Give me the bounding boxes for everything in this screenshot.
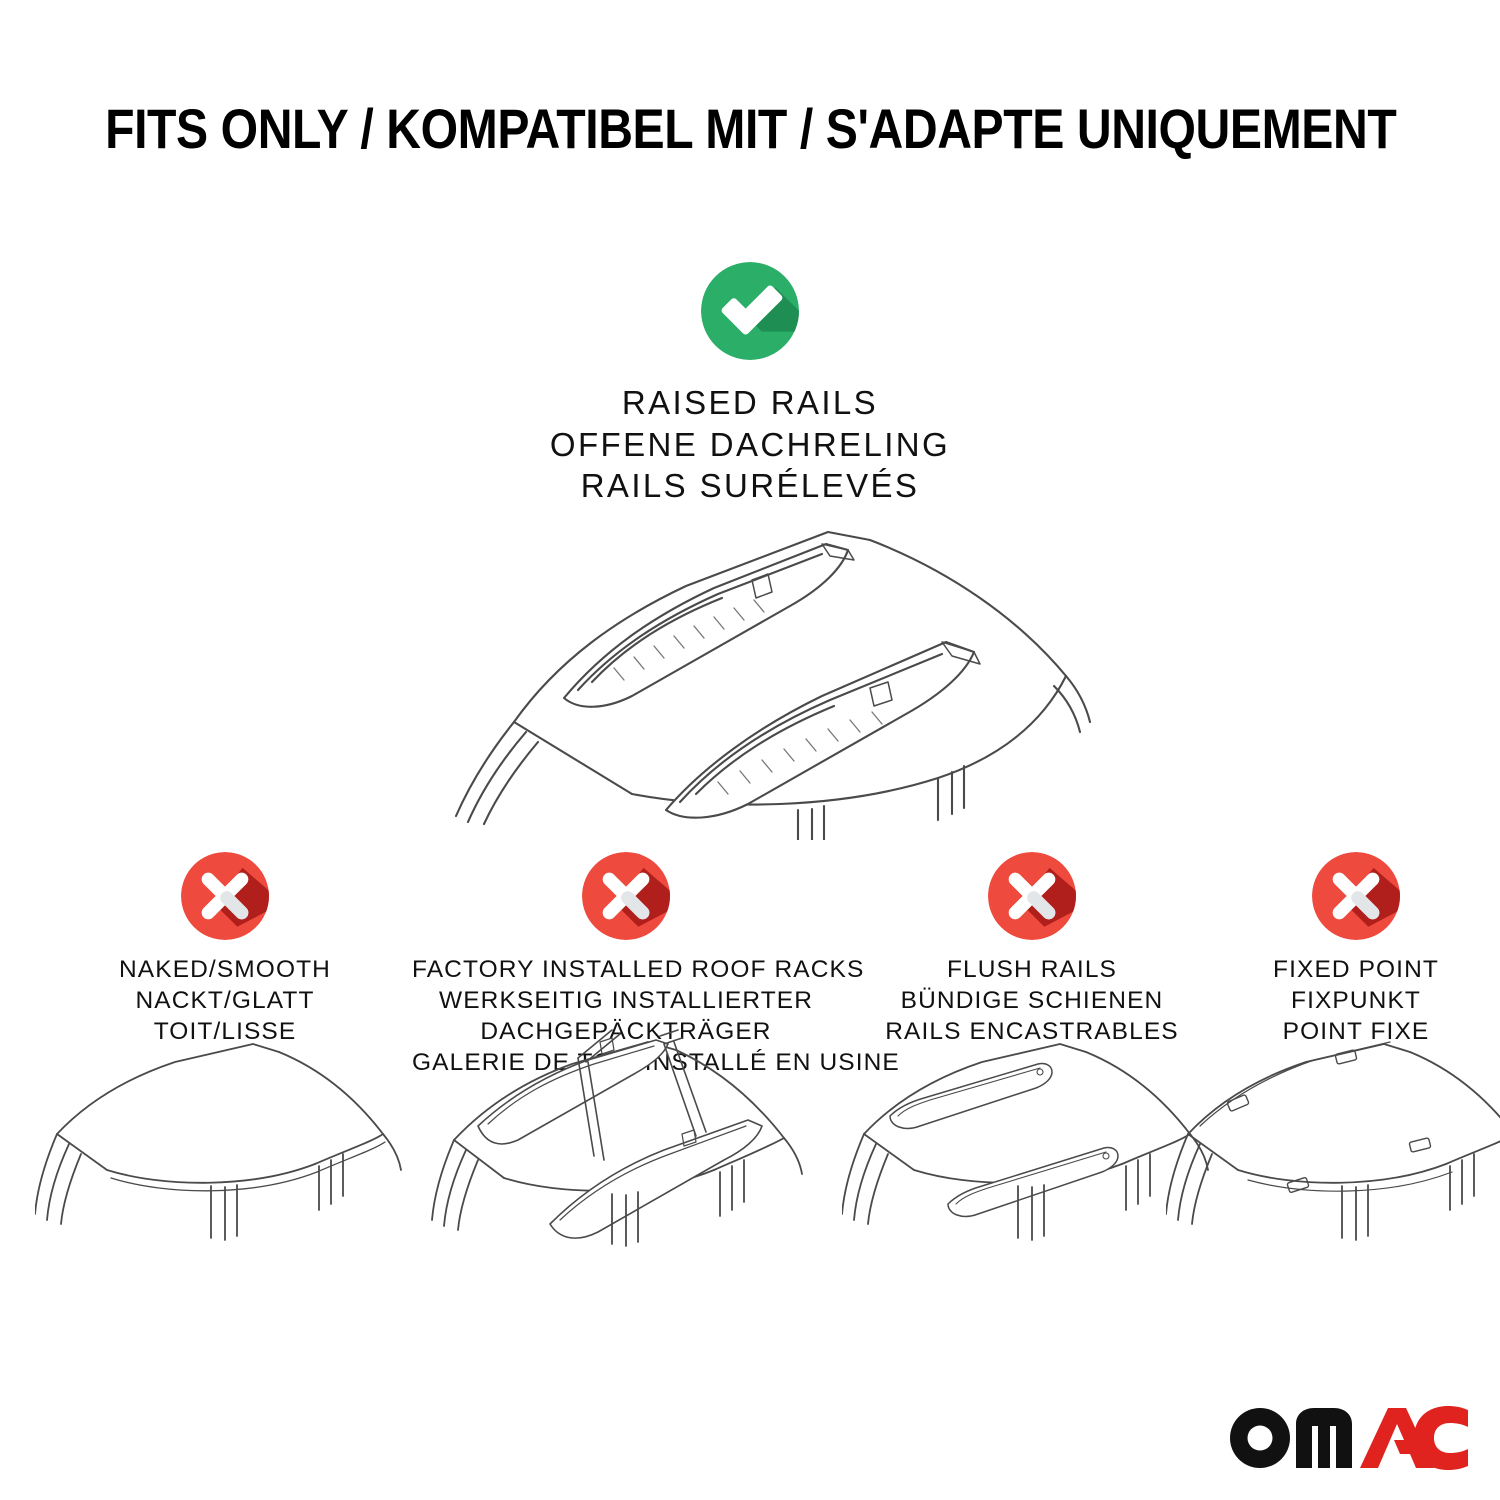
car-roof-naked-smooth-illustration xyxy=(35,1038,415,1298)
incompatible-item-factory-roof-racks: FACTORY INSTALLED ROOF RACKS WERKSEITIG … xyxy=(412,852,840,1078)
incompatible-label-flush-rails: FLUSH RAILS BÜNDIGE SCHIENEN RAILS ENCAS… xyxy=(862,954,1202,1047)
incompatible-label-naked-smooth: NAKED/SMOOTH NACKT/GLATT TOIT/LISSE xyxy=(40,954,410,1047)
label-line-2: FIXPUNKT xyxy=(1212,985,1500,1016)
incompatible-item-naked-smooth: NAKED/SMOOTH NACKT/GLATT TOIT/LISSE xyxy=(40,852,410,1047)
label-line-2: WERKSEITIG INSTALLIERTER xyxy=(412,985,840,1016)
label-line-1: FACTORY INSTALLED ROOF RACKS xyxy=(412,954,840,985)
car-roof-factory-racks-illustration xyxy=(426,1028,826,1298)
x-circle-icon xyxy=(988,852,1076,940)
compatible-section: RAISED RAILS OFFENE DACHRELING RAILS SUR… xyxy=(0,262,1500,507)
label-line-2: BÜNDIGE SCHIENEN xyxy=(862,985,1202,1016)
page-title-text: FITS ONLY / KOMPATIBEL MIT / S'ADAPTE UN… xyxy=(105,96,1396,161)
logo-letter-o xyxy=(1230,1408,1290,1468)
compatible-label-line-1: RAISED RAILS xyxy=(0,382,1500,424)
car-roof-flush-rails-illustration xyxy=(842,1038,1222,1298)
label-line-1: NAKED/SMOOTH xyxy=(40,954,410,985)
car-roof-raised-rails-illustration xyxy=(418,510,1098,840)
car-roof-fixed-point-illustration xyxy=(1166,1038,1500,1298)
x-circle-icon xyxy=(181,852,269,940)
incompatible-label-fixed-point: FIXED POINT FIXPUNKT POINT FIXE xyxy=(1212,954,1500,1047)
x-circle-icon xyxy=(1312,852,1400,940)
compatible-label-line-3: RAILS SURÉLEVÉS xyxy=(0,465,1500,507)
compatible-label: RAISED RAILS OFFENE DACHRELING RAILS SUR… xyxy=(0,382,1500,507)
page-title: FITS ONLY / KOMPATIBEL MIT / S'ADAPTE UN… xyxy=(0,96,1500,161)
incompatible-item-fixed-point: FIXED POINT FIXPUNKT POINT FIXE xyxy=(1212,852,1500,1047)
incompatible-item-flush-rails: FLUSH RAILS BÜNDIGE SCHIENEN RAILS ENCAS… xyxy=(862,852,1202,1047)
incompatible-section: NAKED/SMOOTH NACKT/GLATT TOIT/LISSE xyxy=(0,852,1500,1332)
omac-logo xyxy=(1228,1400,1468,1470)
check-circle-icon xyxy=(701,262,799,360)
label-line-1: FLUSH RAILS xyxy=(862,954,1202,985)
logo-letter-m xyxy=(1296,1408,1352,1468)
label-line-2: NACKT/GLATT xyxy=(40,985,410,1016)
x-circle-icon xyxy=(582,852,670,940)
compatible-label-line-2: OFFENE DACHRELING xyxy=(0,424,1500,466)
label-line-1: FIXED POINT xyxy=(1212,954,1500,985)
